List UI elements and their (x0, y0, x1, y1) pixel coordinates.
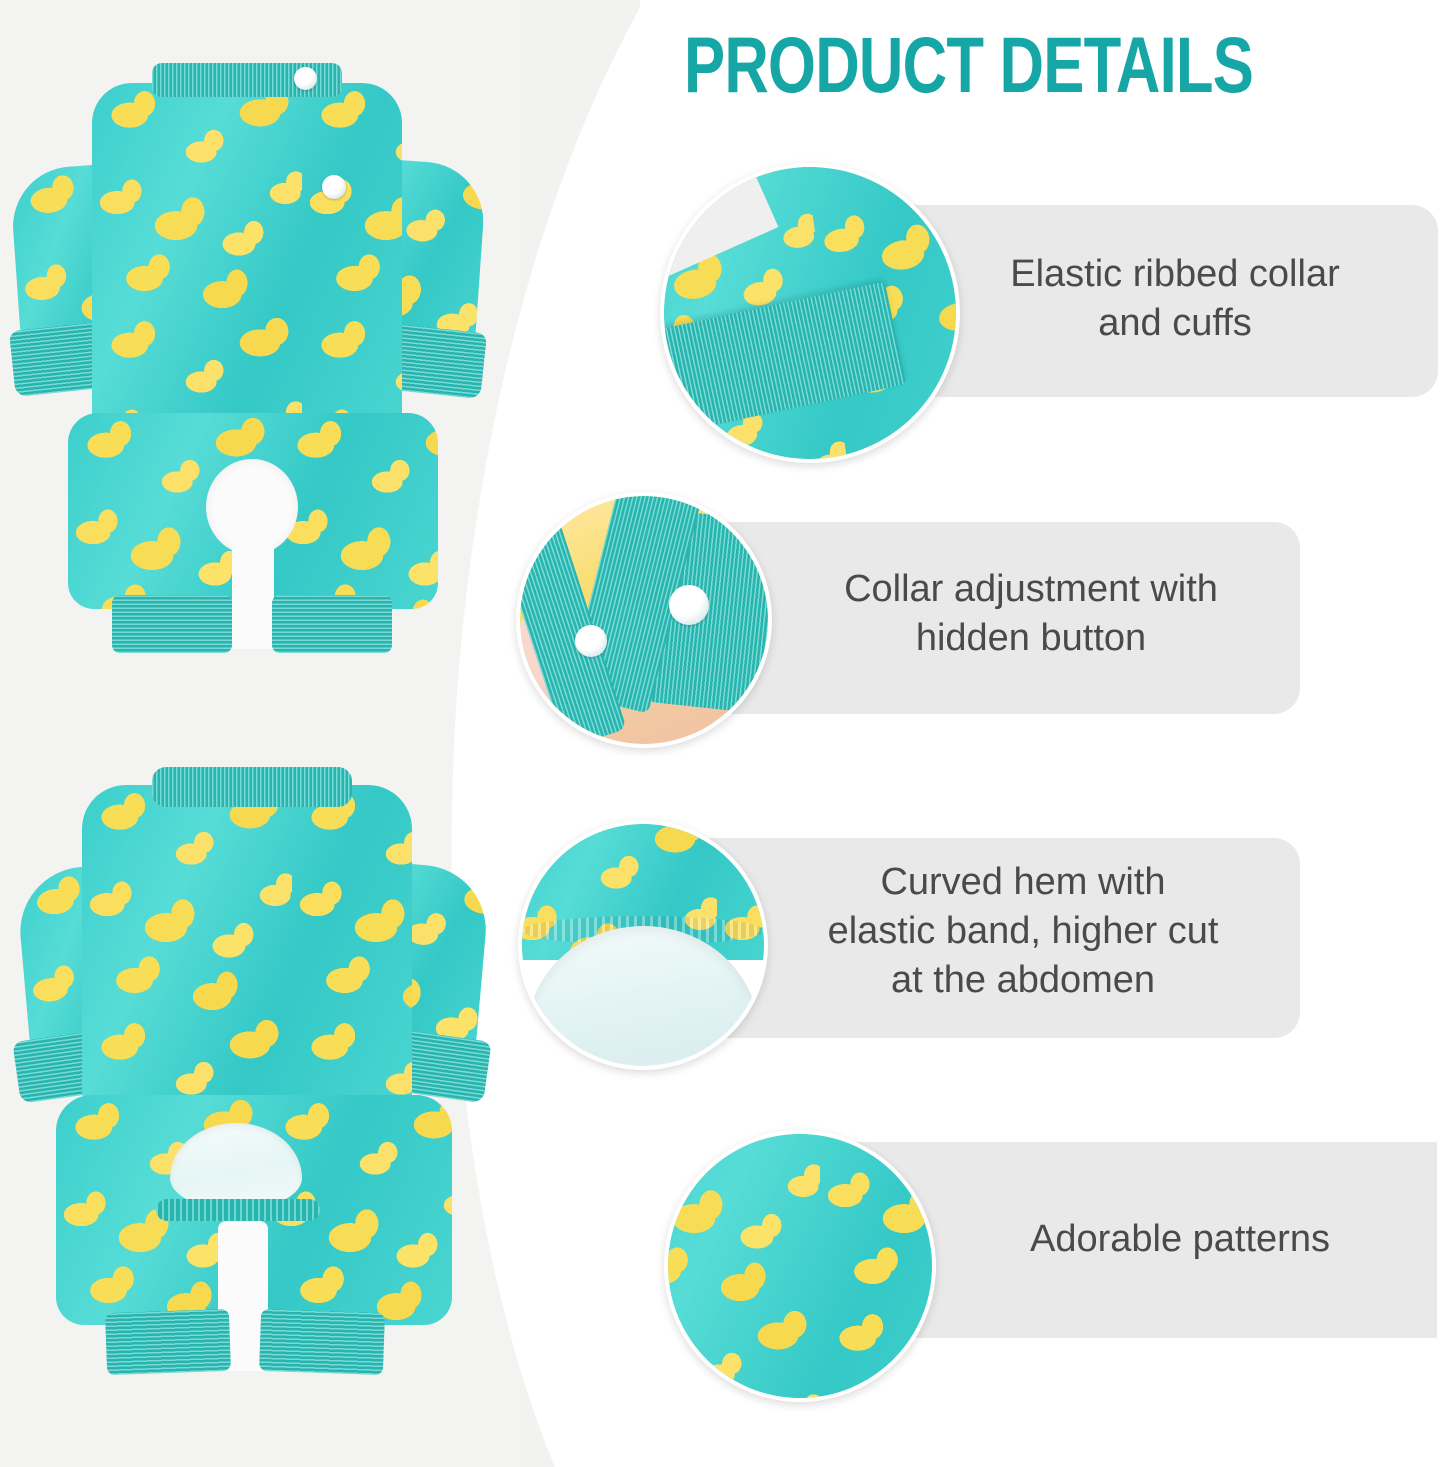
feature-label-adorable-patterns: Adorable patterns (950, 1215, 1410, 1264)
feature-row-adorable-patterns: Adorable patterns (0, 0, 1445, 1467)
duck-pattern-closeup (668, 1134, 932, 1398)
product-details-infographic: PRODUCT DETAILS Elastic ribbed collar an… (0, 0, 1445, 1467)
feature-image-adorable-patterns (664, 1130, 936, 1402)
